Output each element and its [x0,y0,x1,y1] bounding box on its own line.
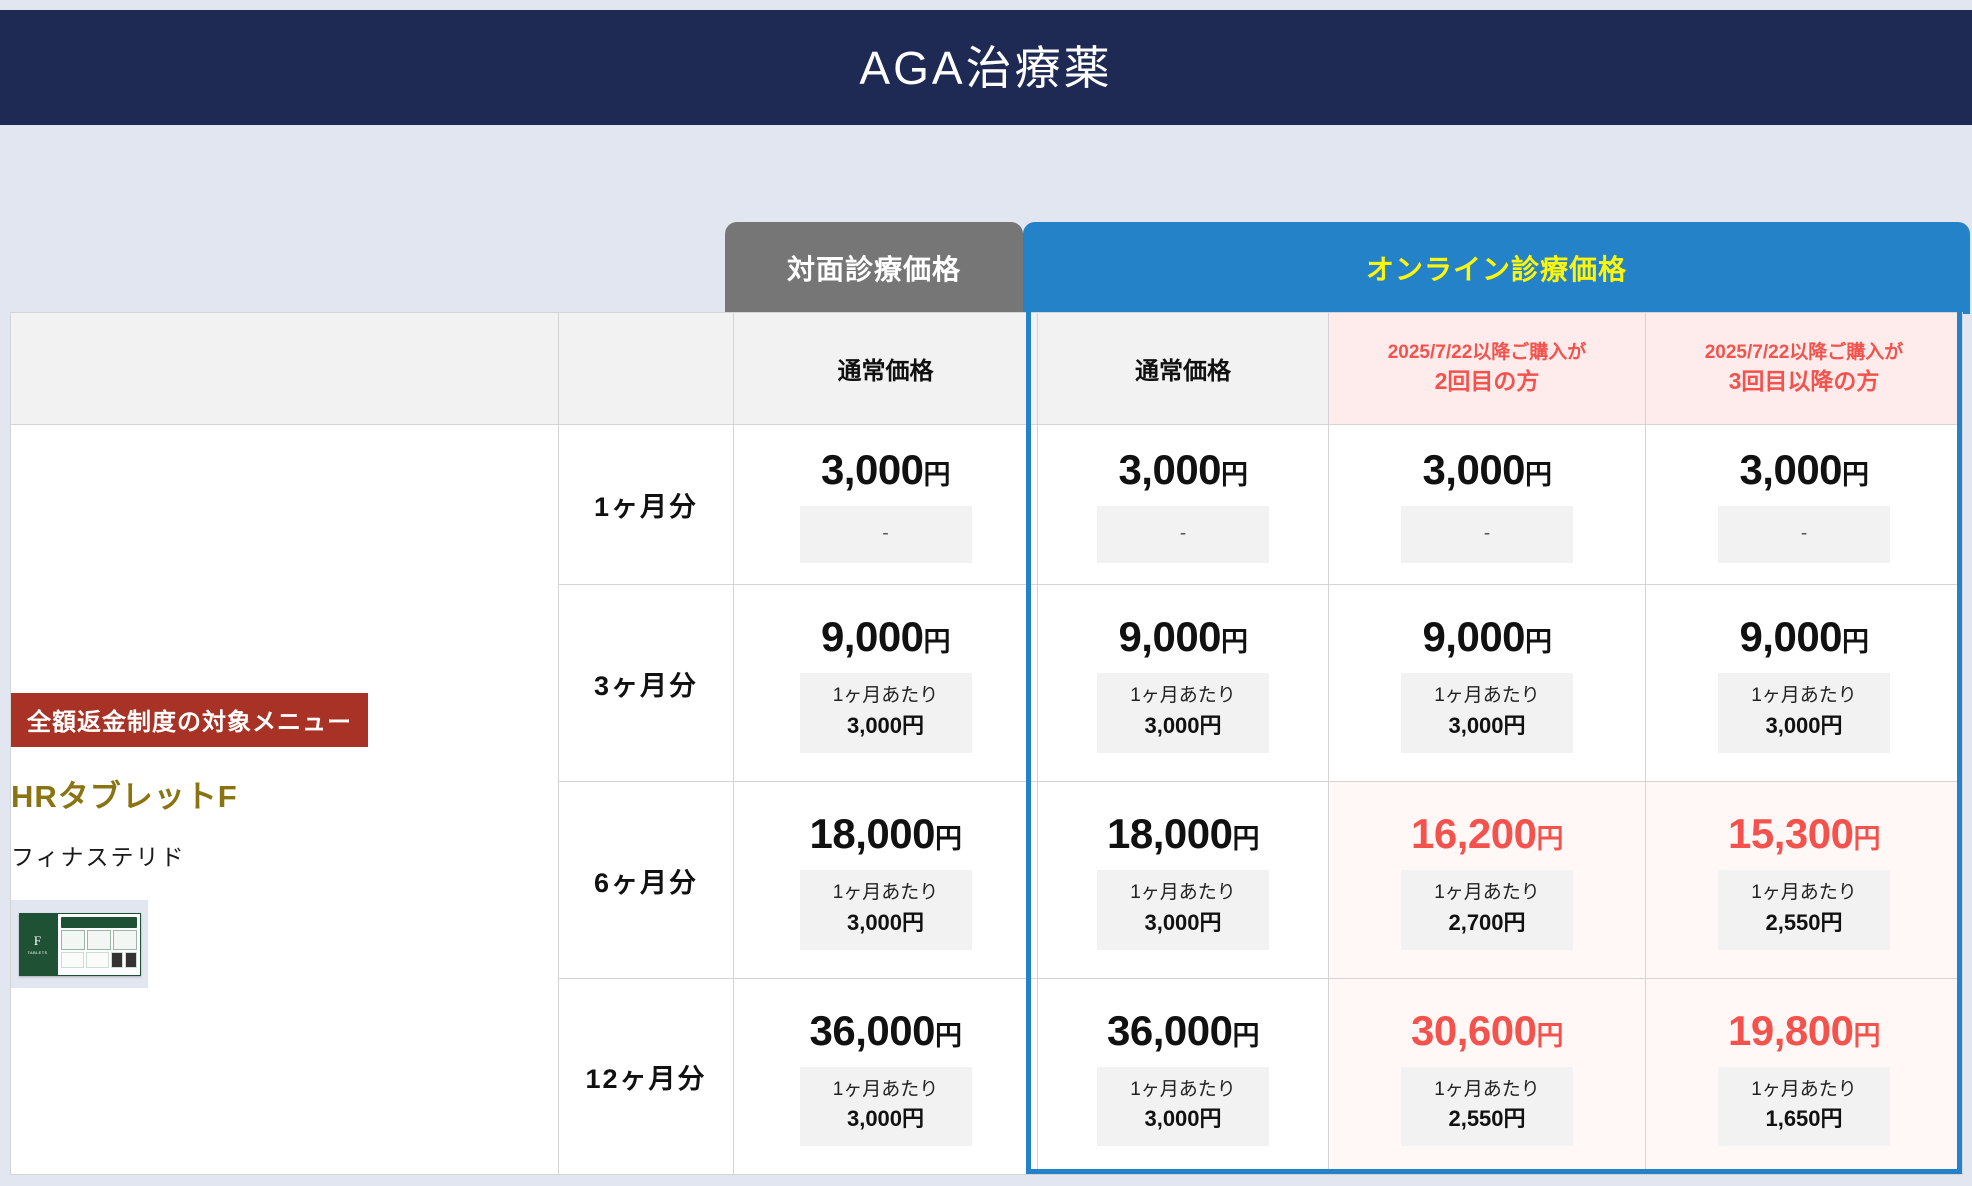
unit-price-label: 1ヶ月あたり [1734,1077,1874,1103]
price-table: 通常価格 通常価格 2025/7/22以降ご購入が 2回目の方 2025/7/2… [10,312,1963,1175]
price-value-discount: 19,800円 [1646,1007,1962,1055]
unit-price-box: 1ヶ月あたり 3,000円 [1097,1067,1269,1147]
cell-online-normal: 9,000円 1ヶ月あたり 3,000円 [1038,585,1329,782]
tab-online-price[interactable]: オンライン診療価格 [1023,222,1970,314]
unit-price-dash: - [816,521,956,547]
header-product-blank [11,313,559,425]
header-online-normal: 通常価格 [1038,313,1329,425]
unit-price-value: 3,000円 [1113,709,1253,742]
price-value: 3,000円 [1329,446,1645,494]
unit-price-label: 1ヶ月あたり [1417,683,1557,709]
price-value: 9,000円 [1329,613,1645,661]
unit-price-dash: - [1417,521,1557,547]
unit-price-dash: - [1734,521,1874,547]
qr-code-icon [111,952,123,968]
cell-online-normal: 3,000円 - [1038,425,1329,585]
promo-card-features [61,930,137,950]
cell-offline-normal: 3,000円 - [734,425,1038,585]
unit-price-value: 2,550円 [1734,906,1874,939]
unit-price-value: 3,000円 [816,1102,956,1135]
price-value: 3,000円 [1038,446,1328,494]
cell-offline-normal: 36,000円 1ヶ月あたり 3,000円 [734,979,1038,1175]
unit-price-value: 3,000円 [1734,709,1874,742]
cell-offline-normal: 9,000円 1ヶ月あたり 3,000円 [734,585,1038,782]
header-offline-normal: 通常価格 [734,313,1038,425]
unit-price-box: - [1097,506,1269,563]
unit-price-box: 1ヶ月あたり 3,000円 [800,1067,972,1147]
cell-second-purchase: 30,600円 1ヶ月あたり 2,550円 [1329,979,1646,1175]
price-value-discount: 30,600円 [1329,1007,1645,1055]
unit-price-box: 1ヶ月あたり 2,700円 [1401,870,1573,950]
table-header-row: 通常価格 通常価格 2025/7/22以降ご購入が 2回目の方 2025/7/2… [11,313,1963,425]
price-value: 9,000円 [1646,613,1962,661]
price-value: 3,000円 [734,446,1037,494]
product-package-graphic: F TABLETS [19,913,141,976]
unit-price-box: 1ヶ月あたり 1,650円 [1718,1067,1890,1147]
cell-online-normal: 18,000円 1ヶ月あたり 3,000円 [1038,782,1329,979]
unit-price-value: 2,700円 [1417,906,1557,939]
unit-price-label: 1ヶ月あたり [816,880,956,906]
cell-third-purchase: 19,800円 1ヶ月あたり 1,650円 [1646,979,1963,1175]
price-value: 3,000円 [1646,446,1962,494]
unit-price-box: 1ヶ月あたり 3,000円 [1718,673,1890,753]
package-promo-card [57,913,141,976]
header-second-purchase-date: 2025/7/22以降ご購入が [1329,340,1645,366]
unit-price-box: 1ヶ月あたり 3,000円 [800,870,972,950]
unit-price-value: 3,000円 [816,906,956,939]
qr-code-icon-2 [125,952,137,968]
page-title: AGA治療薬 [859,45,1112,91]
price-value: 18,000円 [734,810,1037,858]
unit-price-value: 2,550円 [1417,1102,1557,1135]
unit-price-value: 3,000円 [1417,709,1557,742]
price-value: 36,000円 [1038,1007,1328,1055]
promo-card-banner [61,917,137,928]
product-name: HRタブレットF [11,771,558,816]
unit-price-label: 1ヶ月あたり [816,1077,956,1103]
unit-price-label: 1ヶ月あたり [1734,683,1874,709]
package-box: F TABLETS [19,913,57,976]
header-third-purchase-count: 3回目以降の方 [1646,366,1962,397]
duration-label: 6ヶ月分 [559,782,734,979]
product-generic-name: フィナステリド [11,838,558,872]
cell-third-purchase: 9,000円 1ヶ月あたり 3,000円 [1646,585,1963,782]
header-duration-blank [559,313,734,425]
unit-price-label: 1ヶ月あたり [1417,1077,1557,1103]
header-third-purchase-date: 2025/7/22以降ご購入が [1646,340,1962,366]
unit-price-label: 1ヶ月あたり [1417,880,1557,906]
unit-price-box: 1ヶ月あたり 3,000円 [1097,673,1269,753]
header-second-purchase-count: 2回目の方 [1329,366,1645,397]
price-value: 36,000円 [734,1007,1037,1055]
cell-second-purchase: 3,000円 - [1329,425,1646,585]
unit-price-box: 1ヶ月あたり 2,550円 [1401,1067,1573,1147]
unit-price-box: - [1401,506,1573,563]
cell-second-purchase: 16,200円 1ヶ月あたり 2,700円 [1329,782,1646,979]
unit-price-label: 1ヶ月あたり [816,683,956,709]
refund-badge: 全額返金制度の対象メニュー [11,693,368,747]
cell-third-purchase: 15,300円 1ヶ月あたり 2,550円 [1646,782,1963,979]
duration-label: 1ヶ月分 [559,425,734,585]
unit-price-box: 1ヶ月あたり 2,550円 [1718,870,1890,950]
duration-label: 3ヶ月分 [559,585,734,782]
duration-label: 12ヶ月分 [559,979,734,1175]
product-info-cell: 全額返金制度の対象メニュー HRタブレットF フィナステリド F TABLETS [11,425,559,1175]
tab-offline-price[interactable]: 対面診療価格 [725,222,1023,314]
package-tablets-label: TABLETS [27,950,47,955]
unit-price-label: 1ヶ月あたり [1113,683,1253,709]
price-value-discount: 16,200円 [1329,810,1645,858]
unit-price-label: 1ヶ月あたり [1734,880,1874,906]
product-image: F TABLETS [11,900,148,988]
pricing-mode-tabs: 対面診療価格 オンライン診療価格 [725,222,1970,314]
unit-price-value: 1,650円 [1734,1102,1874,1135]
table-row: 全額返金制度の対象メニュー HRタブレットF フィナステリド F TABLETS [11,425,1963,585]
price-value: 9,000円 [1038,613,1328,661]
cell-online-normal: 36,000円 1ヶ月あたり 3,000円 [1038,979,1329,1175]
header-second-purchase: 2025/7/22以降ご購入が 2回目の方 [1329,313,1646,425]
unit-price-value: 3,000円 [1113,1102,1253,1135]
cell-third-purchase: 3,000円 - [1646,425,1963,585]
unit-price-dash: - [1113,521,1253,547]
cell-offline-normal: 18,000円 1ヶ月あたり 3,000円 [734,782,1038,979]
unit-price-box: 1ヶ月あたり 3,000円 [1097,870,1269,950]
unit-price-box: 1ヶ月あたり 3,000円 [1401,673,1573,753]
unit-price-label: 1ヶ月あたり [1113,1077,1253,1103]
unit-price-label: 1ヶ月あたり [1113,880,1253,906]
unit-price-value: 3,000円 [1113,906,1253,939]
price-value-discount: 15,300円 [1646,810,1962,858]
cell-second-purchase: 9,000円 1ヶ月あたり 3,000円 [1329,585,1646,782]
package-f-mark: F [34,934,41,947]
unit-price-box: - [1718,506,1890,563]
header-third-purchase: 2025/7/22以降ご購入が 3回目以降の方 [1646,313,1963,425]
unit-price-box: 1ヶ月あたり 3,000円 [800,673,972,753]
price-value: 9,000円 [734,613,1037,661]
promo-card-footer [61,952,137,968]
price-value: 18,000円 [1038,810,1328,858]
unit-price-value: 3,000円 [816,709,956,742]
page-header-bar: AGA治療薬 [0,10,1972,125]
unit-price-box: - [800,506,972,563]
